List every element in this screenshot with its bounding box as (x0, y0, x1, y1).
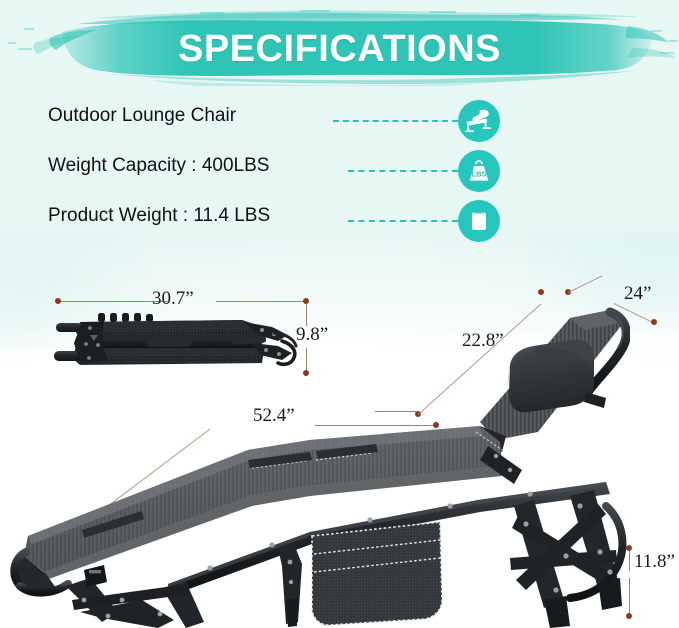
dim-label-seat-height: 11.8” (634, 551, 675, 573)
lounge-chair-icon (458, 100, 500, 142)
weight-lbs-icon: LBS (458, 150, 500, 192)
page-title: SPECIFICATIONS (0, 28, 679, 71)
weight-icon-label: LBS (472, 169, 487, 178)
spec-label: Weight Capacity : 400LBS (48, 155, 269, 177)
header-banner: SPECIFICATIONS (0, 8, 679, 86)
spec-label: Product Weight : 11.4 LBS (48, 205, 270, 227)
spec-connector-dashed-line (333, 120, 458, 122)
spec-list: Outdoor Lounge Chair Weight Capacity : 4 (0, 96, 679, 246)
spec-row-product-weight: Product Weight : 11.4 LBS (0, 196, 679, 246)
dim-dot (651, 319, 657, 325)
spec-connector-dashed-line (348, 220, 458, 222)
dim-dot (538, 289, 544, 295)
open-lounge-chair-image (10, 300, 630, 628)
specifications-infographic: SPECIFICATIONS Outdoor Lounge Chair (0, 0, 679, 628)
spec-connector-dashed-line (348, 170, 458, 172)
package-box-icon (458, 200, 500, 242)
spec-row-weight-capacity: Weight Capacity : 400LBS LBS (0, 146, 679, 196)
spec-row-lounge-chair: Outdoor Lounge Chair (0, 96, 679, 146)
spec-label: Outdoor Lounge Chair (48, 105, 236, 127)
